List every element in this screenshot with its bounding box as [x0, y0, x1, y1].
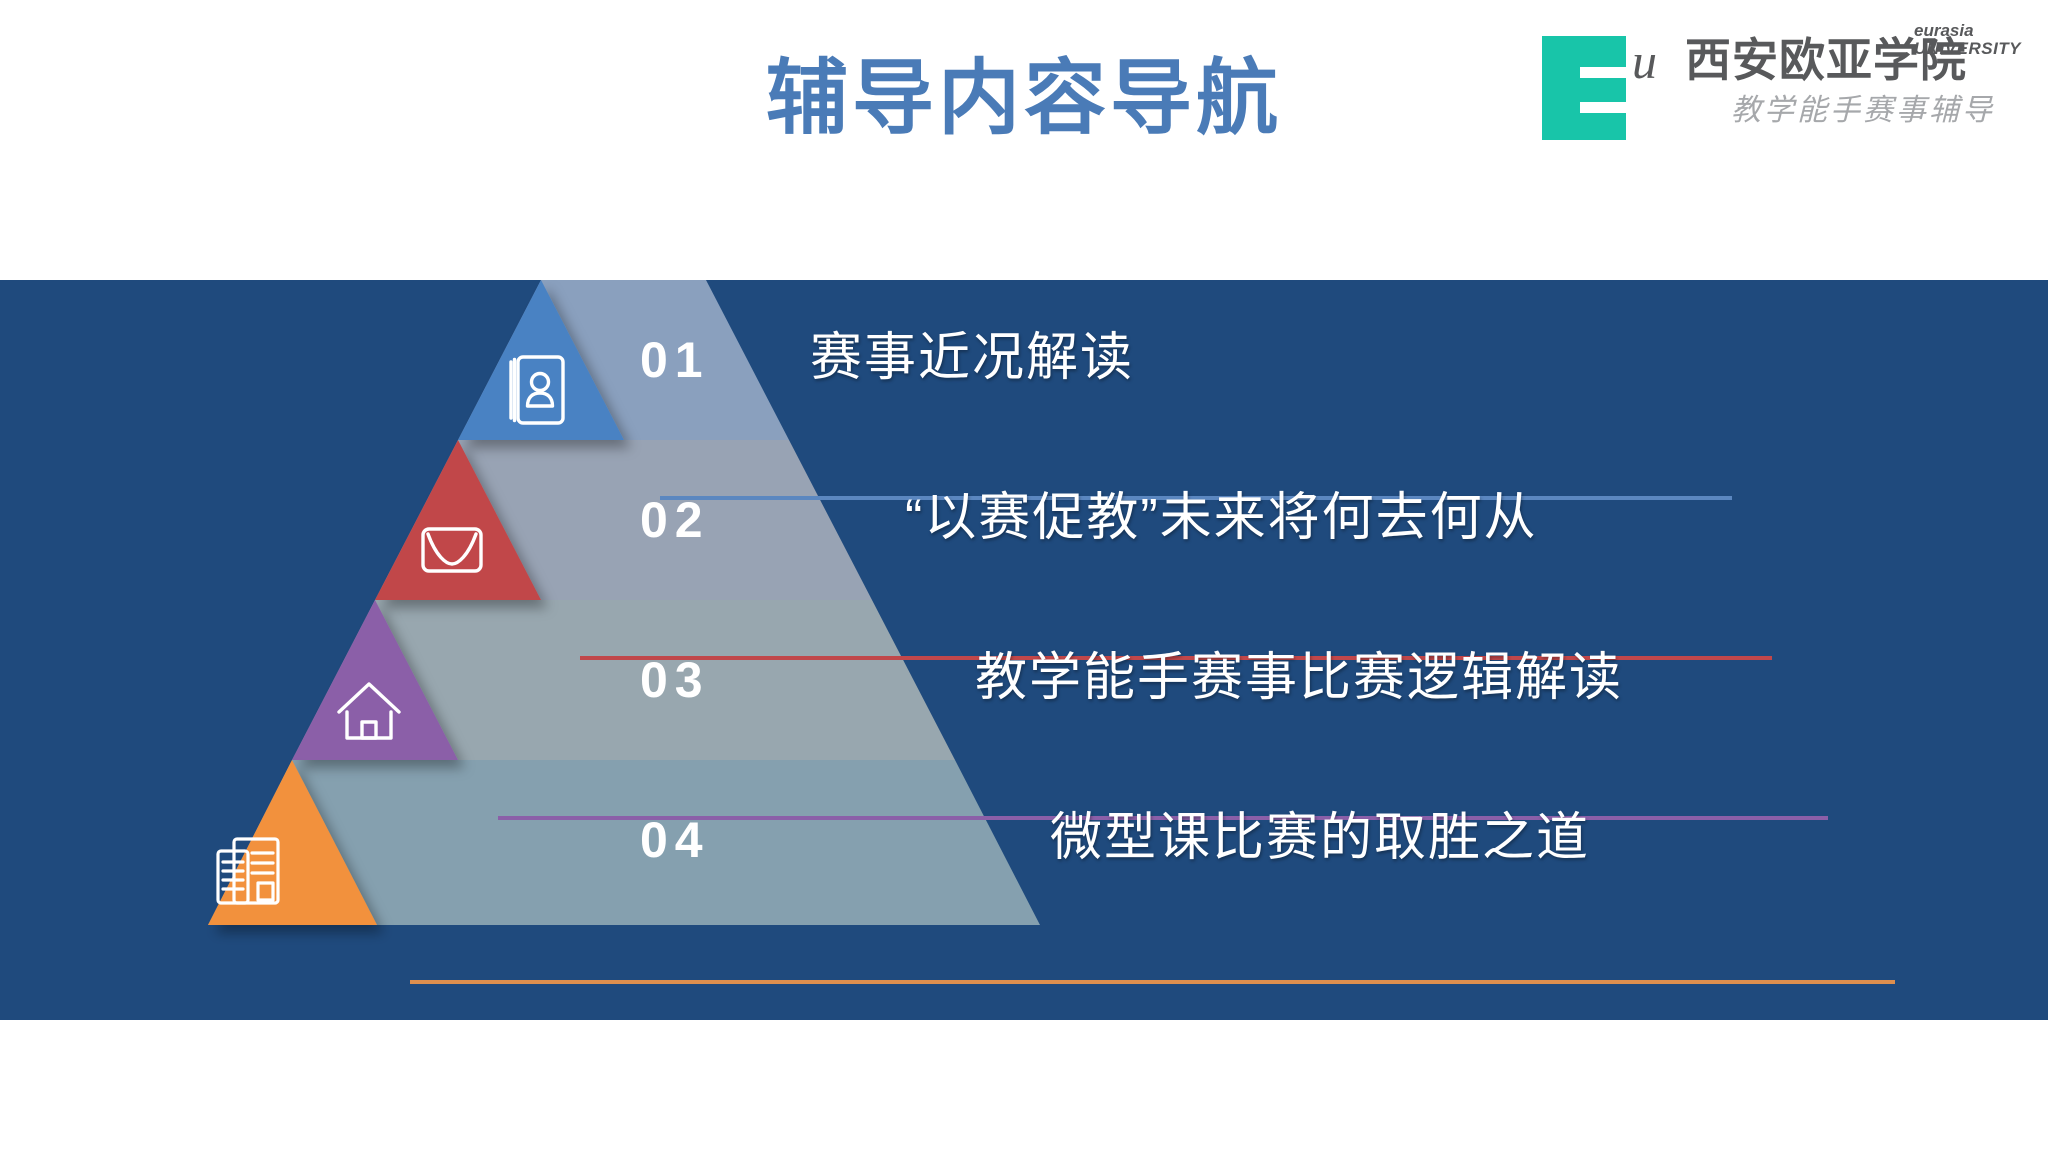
slide-header: 辅导内容导航 u 西安欧亚学院 eurasia UNIVERSITY 教学能手赛… [0, 0, 2048, 280]
row-number-3: 03 [640, 655, 710, 705]
logo-subtitle: 教学能手赛事辅导 [1688, 96, 2038, 126]
logo-e-mark [1542, 36, 1626, 140]
logo-name-english: eurasia UNIVERSITY [1914, 22, 2021, 58]
row-divider-4 [410, 980, 1895, 984]
row-label-1: 赛事近况解读 [810, 332, 1134, 384]
pyramid-panel: 01 赛事近况解读 02 “以赛促教”未来将何去何从 03 教学能手赛事比赛逻辑… [0, 280, 2048, 1020]
row-label-3: 教学能手赛事比赛逻辑解读 [975, 652, 1623, 704]
logo-name-english-line1: eurasia [1914, 22, 2021, 40]
home-icon [333, 672, 405, 748]
documents-icon [212, 835, 284, 911]
row-number-4: 04 [640, 815, 710, 865]
slide-footer [0, 1020, 2048, 1152]
row-label-2: “以赛促教”未来将何去何从 [905, 492, 1538, 544]
logo-name-english-line2: UNIVERSITY [1914, 40, 2021, 58]
envelope-icon [416, 512, 488, 588]
address-book-icon [500, 352, 572, 428]
row-label-4: 微型课比赛的取胜之道 [1050, 812, 1590, 864]
university-logo: u 西安欧亚学院 eurasia UNIVERSITY 教学能手赛事辅导 [1480, 14, 2040, 154]
logo-u-script: u [1632, 36, 1657, 86]
row-number-1: 01 [640, 335, 710, 385]
row-number-2: 02 [640, 495, 710, 545]
